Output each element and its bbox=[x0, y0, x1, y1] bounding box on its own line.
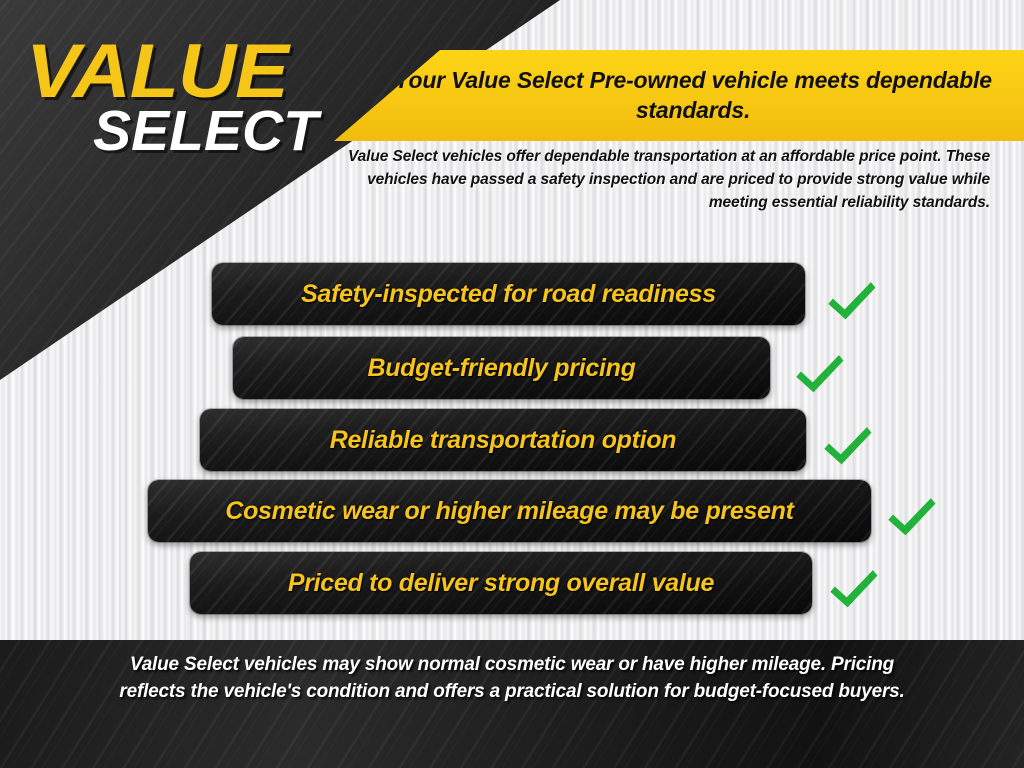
feature-bar: Budget-friendly pricing bbox=[233, 337, 770, 399]
green-check-icon bbox=[882, 490, 940, 548]
feature-label: Safety-inspected for road readiness bbox=[301, 280, 716, 309]
brand-logo: VALUE SELECT bbox=[26, 36, 356, 159]
green-check-icon bbox=[818, 419, 876, 477]
green-check-icon bbox=[790, 347, 848, 405]
intro-paragraph: Value Select vehicles offer dependable t… bbox=[330, 146, 990, 215]
green-check-icon bbox=[824, 562, 882, 620]
logo-word-value: VALUE bbox=[26, 36, 376, 107]
feature-bar: Priced to deliver strong overall value bbox=[190, 552, 812, 614]
footer-disclaimer-panel: Value Select vehicles may show normal co… bbox=[0, 640, 1024, 768]
feature-bar: Cosmetic wear or higher mileage may be p… bbox=[148, 480, 871, 542]
headline-text: Your Value Select Pre-owned vehicle meet… bbox=[383, 66, 1003, 125]
headline-banner: Your Value Select Pre-owned vehicle meet… bbox=[320, 50, 1024, 141]
feature-label: Cosmetic wear or higher mileage may be p… bbox=[225, 497, 793, 526]
feature-bar: Reliable transportation option bbox=[200, 409, 806, 471]
feature-label: Budget-friendly pricing bbox=[367, 354, 635, 383]
value-select-banner: VALUE SELECT Your Value Select Pre-owned… bbox=[0, 0, 1024, 768]
green-check-icon bbox=[822, 274, 880, 332]
footer-disclaimer-text: Value Select vehicles may show normal co… bbox=[97, 652, 927, 706]
feature-bar: Safety-inspected for road readiness bbox=[212, 263, 805, 325]
feature-label: Reliable transportation option bbox=[330, 426, 677, 455]
feature-label: Priced to deliver strong overall value bbox=[288, 569, 714, 598]
